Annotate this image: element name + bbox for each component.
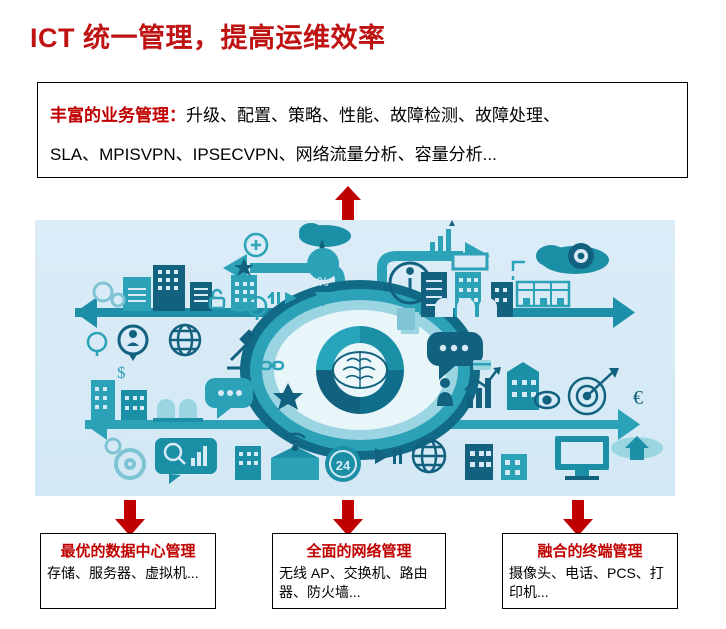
feature-description-box: 丰富的业务管理：升级、配置、策略、性能、故障检测、故障处理、 SLA、MPISV… — [37, 82, 688, 178]
city-cluster-right-lower — [507, 362, 539, 410]
svg-text:€: € — [633, 387, 643, 409]
badge-24-label: 24 — [336, 458, 351, 473]
category-body-terminal: 摄像头、电话、PCS、打印机... — [509, 564, 671, 602]
up-arrow-icon — [335, 186, 361, 220]
category-title-network: 全面的网络管理 — [273, 540, 445, 561]
category-body-network: 无线 AP、交换机、路由器、防火墙... — [279, 564, 439, 602]
down-arrow-icon-2 — [333, 500, 359, 534]
category-body-datacenter: 存储、服务器、虚拟机... — [47, 564, 209, 583]
bridge-icon — [435, 298, 497, 317]
down-arrow-icon-3 — [563, 500, 589, 534]
category-title-terminal: 融合的终端管理 — [503, 540, 677, 561]
svg-text:%: % — [317, 274, 329, 289]
svg-text:$: $ — [117, 363, 126, 382]
page-title: ICT 统一管理，提高运维效率 — [30, 16, 386, 55]
ict-architecture-illustration: $ — [35, 220, 675, 496]
dollar-icon: $ — [117, 363, 126, 382]
illustration-canvas: $ — [35, 220, 675, 496]
category-box-network: 全面的网络管理 无线 AP、交换机、路由器、防火墙... — [272, 533, 446, 609]
card-icon — [473, 360, 491, 370]
feature-line-1-text: 升级、配置、策略、性能、故障检测、故障处理、 — [186, 106, 560, 125]
warehouse-icon — [517, 282, 569, 306]
category-box-terminal: 融合的终端管理 摄像头、电话、PCS、打印机... — [502, 533, 678, 609]
feature-line-2: SLA、MPISVPN、IPSECVPN、网络流量分析、容量分析... — [50, 140, 679, 165]
category-title-datacenter: 最优的数据中心管理 — [41, 540, 215, 561]
feature-label: 丰富的业务管理： — [50, 106, 186, 125]
badge-24-icon: 24 — [325, 446, 361, 482]
category-box-datacenter: 最优的数据中心管理 存储、服务器、虚拟机... — [40, 533, 216, 609]
down-arrow-icon-1 — [115, 500, 141, 534]
feature-line-1: 丰富的业务管理：升级、配置、策略、性能、故障检测、故障处理、 — [50, 101, 679, 126]
brain-icon — [333, 352, 387, 388]
euro-icon: € — [633, 387, 643, 409]
